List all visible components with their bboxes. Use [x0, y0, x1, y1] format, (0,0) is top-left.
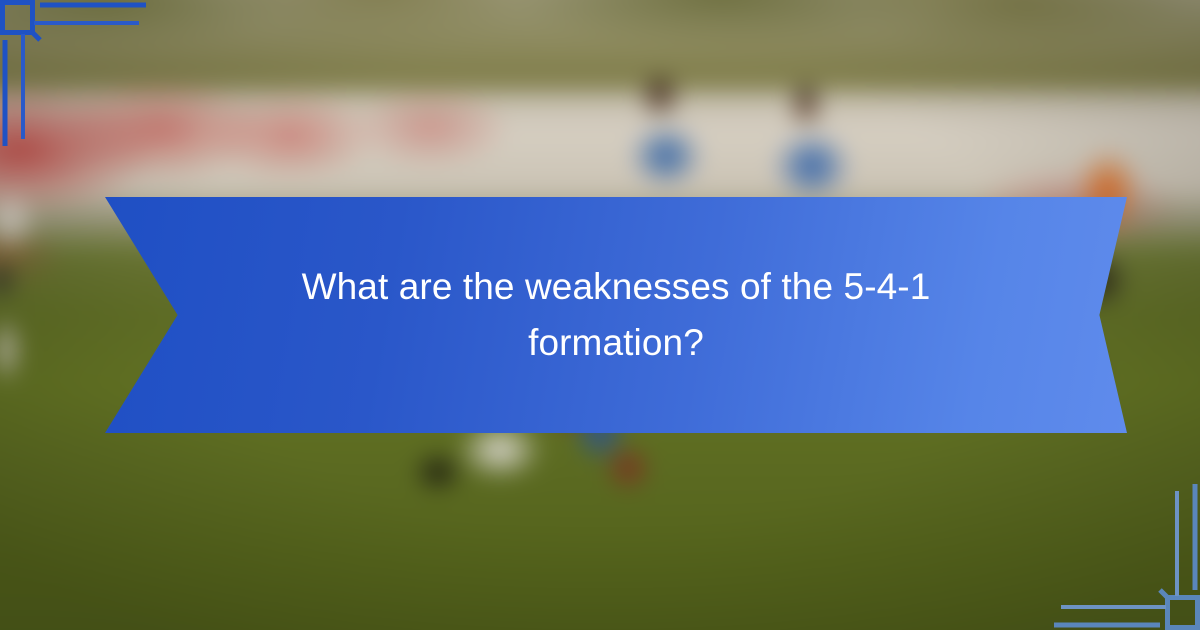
headline-banner: What are the weaknesses of the 5-4-1 for…: [105, 197, 1127, 433]
poster-canvas: What are the weaknesses of the 5-4-1 for…: [0, 0, 1200, 630]
headline-text: What are the weaknesses of the 5-4-1 for…: [105, 197, 1127, 433]
